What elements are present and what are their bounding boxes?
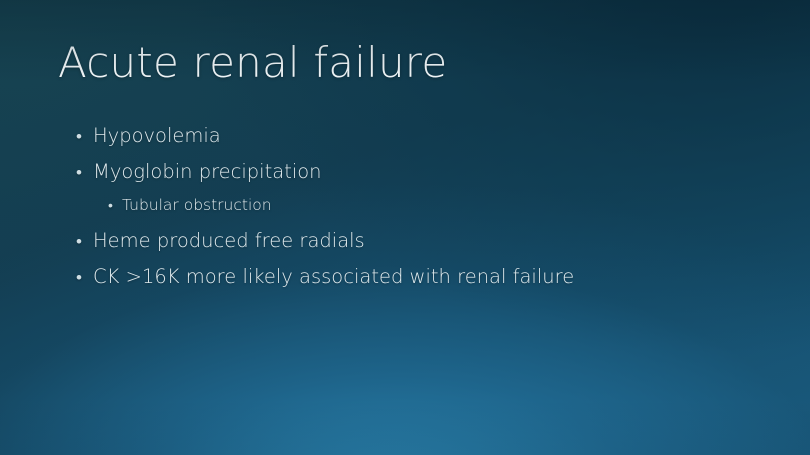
presentation-slide: Acute renal failure •Hypovolemia•Myoglob… (0, 0, 810, 455)
bullet-list: •Hypovolemia•Myoglobin precipitation•Tub… (0, 120, 760, 297)
list-item: •Hypovolemia (0, 120, 760, 153)
list-item-label: CK >16K more likely associated with rena… (93, 261, 574, 293)
bullet-point-icon: • (76, 157, 93, 189)
page-title: Acute renal failure (58, 38, 447, 87)
bullet-point-icon: • (76, 262, 93, 294)
list-item: •Myoglobin precipitation (0, 156, 760, 189)
list-item-label: Myoglobin precipitation (93, 156, 322, 188)
list-item-label: Hypovolemia (93, 120, 221, 152)
bullet-point-icon: • (108, 193, 122, 220)
list-item: •CK >16K more likely associated with ren… (0, 261, 760, 294)
list-item: •Heme produced free radials (0, 225, 760, 258)
list-item-label: Heme produced free radials (93, 225, 365, 257)
list-item: •Tubular obstruction (0, 192, 760, 220)
list-item-label: Tubular obstruction (122, 192, 272, 219)
bullet-point-icon: • (76, 226, 93, 258)
bullet-point-icon: • (76, 121, 93, 153)
